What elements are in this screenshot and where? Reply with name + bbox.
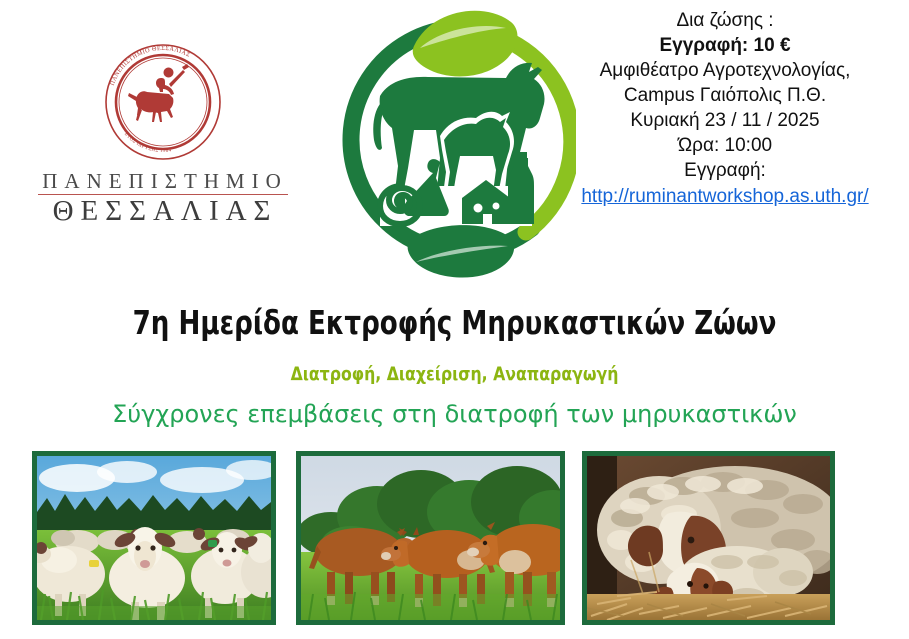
event-venue-line2: Campus Γαιόπολις Π.Θ.: [549, 83, 901, 108]
poster-tagline: Σύγχρονες επεμβάσεις στη διατροφή των μη…: [0, 400, 909, 428]
photo-sheep-flock: [32, 451, 276, 625]
poster: ΠΑΝΕΠΙΣΤΗΜΙΟ ΘΕΣΣΑΛΙΑΣ ΕΤΟΣ ΙΔΡΥΣΗΣ 1984: [0, 0, 909, 639]
poster-title: 7η Ημερίδα Εκτροφής Μηρυκαστικών Ζώων: [55, 303, 855, 342]
event-time: Ώρα: 10:00: [549, 133, 901, 158]
event-venue-line1: Αμφιθέατρο Αγροτεχνολογίας,: [549, 58, 901, 83]
event-registration-label: Εγγραφή:: [549, 158, 901, 183]
university-logo: ΠΑΝΕΠΙΣΤΗΜΙΟ ΘΕΣΣΑΛΙΑΣ ΕΤΟΣ ΙΔΡΥΣΗΣ 1984: [18, 42, 308, 228]
event-info: Δια ζώσης : Εγγραφή: 10 € Αμφιθέατρο Αγρ…: [549, 8, 901, 209]
event-fee: Εγγραφή: 10 €: [549, 33, 901, 58]
university-name-line1: ΠΑΝΕΠΙΣΤΗΜΙΟ: [38, 170, 288, 195]
photo-ewe-with-lamb: [582, 451, 835, 625]
university-name-line2: ΘΕΣΣΑΛΙΑΣ: [18, 196, 308, 228]
event-date: Κυριακή 23 / 11 / 2025: [549, 108, 901, 133]
university-name: ΠΑΝΕΠΙΣΤΗΜΙΟ ΘΕΣΣΑΛΙΑΣ: [18, 170, 308, 228]
poster-header: ΠΑΝΕΠΙΣΤΗΜΙΟ ΘΕΣΣΑΛΙΑΣ ΕΤΟΣ ΙΔΡΥΣΗΣ 1984: [0, 0, 909, 290]
ruminant-workshop-logo-icon: [336, 0, 576, 288]
photo-strip: [0, 451, 909, 631]
photo-brown-cattle: [296, 451, 565, 625]
event-mode: Δια ζώσης :: [549, 8, 901, 33]
registration-url-link[interactable]: http://ruminantworkshop.as.uth.gr/: [581, 184, 868, 209]
poster-subtitle: Διατροφή, Διαχείριση, Αναπαραγωγή: [36, 363, 872, 385]
university-seal-icon: ΠΑΝΕΠΙΣΤΗΜΙΟ ΘΕΣΣΑΛΙΑΣ ΕΤΟΣ ΙΔΡΥΣΗΣ 1984: [103, 42, 223, 162]
